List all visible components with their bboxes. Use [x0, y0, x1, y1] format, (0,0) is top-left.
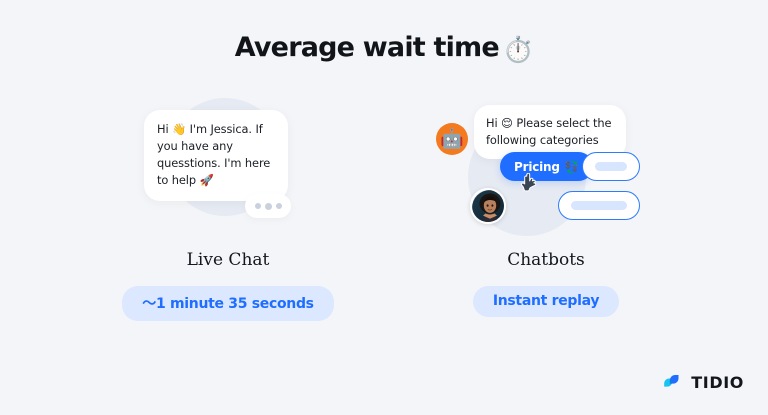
- bot-message-bubble: Hi 😌 Please select the following categor…: [474, 105, 626, 159]
- tidio-logo: TIDIO: [662, 371, 744, 393]
- typing-dot-3: [276, 203, 282, 209]
- typing-indicator: [245, 194, 291, 218]
- badge-container-live-chat: 〜1 minute 35 seconds: [78, 286, 378, 321]
- tidio-logo-icon: [662, 371, 684, 393]
- stopwatch-emoji: ⏱️: [503, 35, 533, 64]
- page-title: Average wait time⏱️: [0, 32, 768, 65]
- wait-time-badge-live-chat: 〜1 minute 35 seconds: [122, 286, 333, 321]
- chatbot-illustration: 🤖 Hi 😌 Please select the following categ…: [396, 90, 696, 240]
- quick-reply-placeholder-1[interactable]: [582, 152, 640, 181]
- robot-emoji: 🤖: [440, 130, 464, 149]
- column-label-live-chat: Live Chat: [78, 250, 378, 270]
- tidio-logo-text: TIDIO: [691, 373, 744, 392]
- quick-reply-pricing-label: Pricing: [514, 160, 560, 174]
- bot-avatar: 🤖: [436, 123, 468, 155]
- wait-time-badge-chatbots: Instant replay: [473, 286, 619, 317]
- badge-container-chatbots: Instant replay: [396, 286, 696, 317]
- typing-dot-1: [255, 203, 261, 209]
- agent-message-bubble: Hi 👋 I'm Jessica. If you have any quesst…: [144, 110, 288, 201]
- column-chatbots: 🤖 Hi 😌 Please select the following categ…: [396, 90, 696, 330]
- placeholder-bar: [571, 201, 627, 210]
- column-label-chatbots: Chatbots: [396, 250, 696, 270]
- page-title-text: Average wait time: [235, 32, 499, 63]
- typing-dot-2: [265, 203, 272, 210]
- column-live-chat: Hi 👋 I'm Jessica. If you have any quesst…: [78, 90, 378, 330]
- slide-canvas: Average wait time⏱️ Hi 👋 I'm Jessica. If…: [0, 0, 768, 415]
- placeholder-bar: [595, 162, 627, 171]
- live-chat-illustration: Hi 👋 I'm Jessica. If you have any quesst…: [78, 90, 378, 240]
- quick-reply-pricing-button[interactable]: Pricing 💱: [500, 152, 593, 181]
- user-avatar: [470, 188, 506, 224]
- currency-exchange-emoji: 💱: [565, 160, 579, 174]
- quick-reply-placeholder-2[interactable]: [558, 191, 640, 220]
